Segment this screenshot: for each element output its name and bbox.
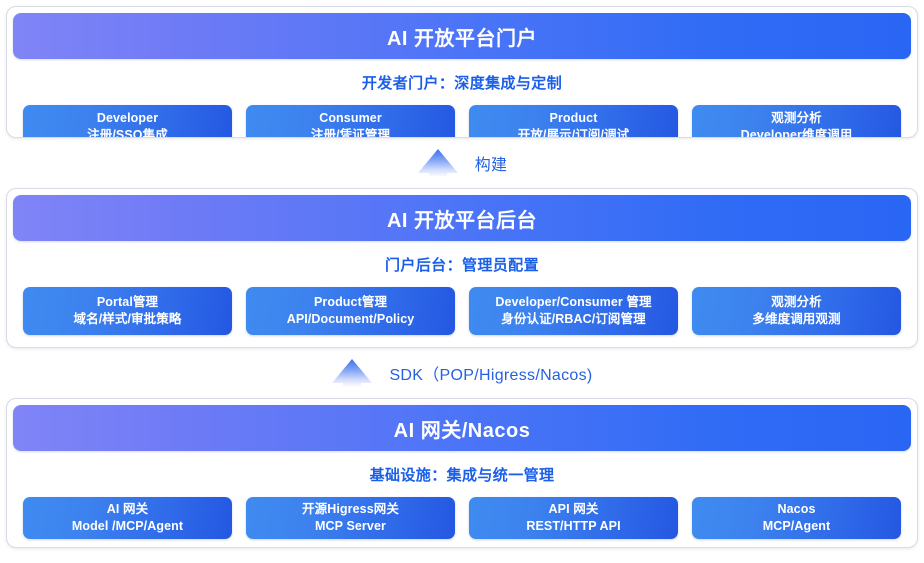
card-api-gateway[interactable]: API 网关 REST/HTTP API (469, 497, 678, 539)
card-product-title: Product (550, 110, 598, 127)
card-api-gateway-title: API 网关 (549, 501, 599, 518)
card-identity-management[interactable]: Developer/Consumer 管理 身份认证/RBAC/订阅管理 (469, 287, 678, 335)
arrow-up-icon (417, 148, 459, 178)
layer-gateway-header-title: AI 网关/Nacos (394, 414, 531, 443)
card-ai-gateway-title: AI 网关 (107, 501, 148, 518)
arrow-up-icon (331, 358, 373, 388)
card-higress-gateway[interactable]: 开源Higress网关 MCP Server (246, 497, 455, 539)
card-observability-portal-detail: Developer维度调用 (741, 127, 853, 138)
layer-portal-header-title: AI 开放平台门户 (387, 22, 537, 51)
card-product-management-detail: API/Document/Policy (287, 311, 415, 328)
connector-sdk-label: SDK（POP/Higress/Nacos) (389, 361, 592, 385)
layer-gateway-subtitle: 基础设施：集成与统一管理 (7, 464, 917, 485)
layer-backend-header-title: AI 开放平台后台 (387, 204, 537, 233)
card-product[interactable]: Product 开放/展示/订阅/调试 (469, 105, 678, 138)
card-nacos-title: Nacos (777, 501, 815, 518)
card-higress-gateway-title: 开源Higress网关 (302, 501, 399, 518)
card-portal-management-title: Portal管理 (97, 294, 158, 311)
layer-backend-header: AI 开放平台后台 (13, 195, 911, 241)
card-observability-portal[interactable]: 观测分析 Developer维度调用 (692, 105, 901, 138)
connector-build-label: 构建 (475, 151, 508, 175)
card-nacos-detail: MCP/Agent (763, 518, 831, 535)
card-ai-gateway-detail: Model /MCP/Agent (72, 518, 183, 535)
card-ai-gateway[interactable]: AI 网关 Model /MCP/Agent (23, 497, 232, 539)
card-observability-backend-title: 观测分析 (771, 294, 821, 311)
layer-portal-header: AI 开放平台门户 (13, 13, 911, 59)
card-product-detail: 开放/展示/订阅/调试 (518, 127, 630, 138)
card-developer-detail: 注册/SSO集成 (87, 127, 168, 138)
card-product-management-title: Product管理 (314, 294, 387, 311)
card-identity-management-detail: 身份认证/RBAC/订阅管理 (501, 311, 645, 328)
card-consumer[interactable]: Consumer 注册/凭证管理 (246, 105, 455, 138)
card-portal-management[interactable]: Portal管理 域名/样式/审批策略 (23, 287, 232, 335)
connector-sdk: SDK（POP/Higress/Nacos) (6, 350, 918, 396)
layer-portal-card-row: Developer 注册/SSO集成 Consumer 注册/凭证管理 Prod… (7, 105, 917, 138)
card-developer-title: Developer (97, 110, 158, 127)
layer-portal: AI 开放平台门户 开发者门户：深度集成与定制 Developer 注册/SSO… (6, 6, 918, 138)
layer-gateway-card-row: AI 网关 Model /MCP/Agent 开源Higress网关 MCP S… (7, 497, 917, 539)
card-observability-backend[interactable]: 观测分析 多维度调用观测 (692, 287, 901, 335)
card-identity-management-title: Developer/Consumer 管理 (495, 294, 651, 311)
card-developer[interactable]: Developer 注册/SSO集成 (23, 105, 232, 138)
card-nacos[interactable]: Nacos MCP/Agent (692, 497, 901, 539)
card-api-gateway-detail: REST/HTTP API (526, 518, 620, 535)
card-consumer-title: Consumer (319, 110, 382, 127)
card-observability-backend-detail: 多维度调用观测 (752, 311, 840, 328)
layer-portal-subtitle: 开发者门户：深度集成与定制 (7, 72, 917, 93)
card-consumer-detail: 注册/凭证管理 (311, 127, 390, 138)
layer-backend-subtitle: 门户后台：管理员配置 (7, 254, 917, 275)
architecture-diagram: AI 开放平台门户 开发者门户：深度集成与定制 Developer 注册/SSO… (0, 0, 924, 563)
layer-backend-card-row: Portal管理 域名/样式/审批策略 Product管理 API/Docume… (7, 287, 917, 335)
connector-build: 构建 (6, 140, 918, 186)
layer-backend: AI 开放平台后台 门户后台：管理员配置 Portal管理 域名/样式/审批策略… (6, 188, 918, 348)
card-higress-gateway-detail: MCP Server (315, 518, 386, 535)
card-portal-management-detail: 域名/样式/审批策略 (74, 311, 182, 328)
card-product-management[interactable]: Product管理 API/Document/Policy (246, 287, 455, 335)
layer-gateway-header: AI 网关/Nacos (13, 405, 911, 451)
layer-gateway: AI 网关/Nacos 基础设施：集成与统一管理 AI 网关 Model /MC… (6, 398, 918, 548)
card-observability-portal-title: 观测分析 (771, 110, 821, 127)
